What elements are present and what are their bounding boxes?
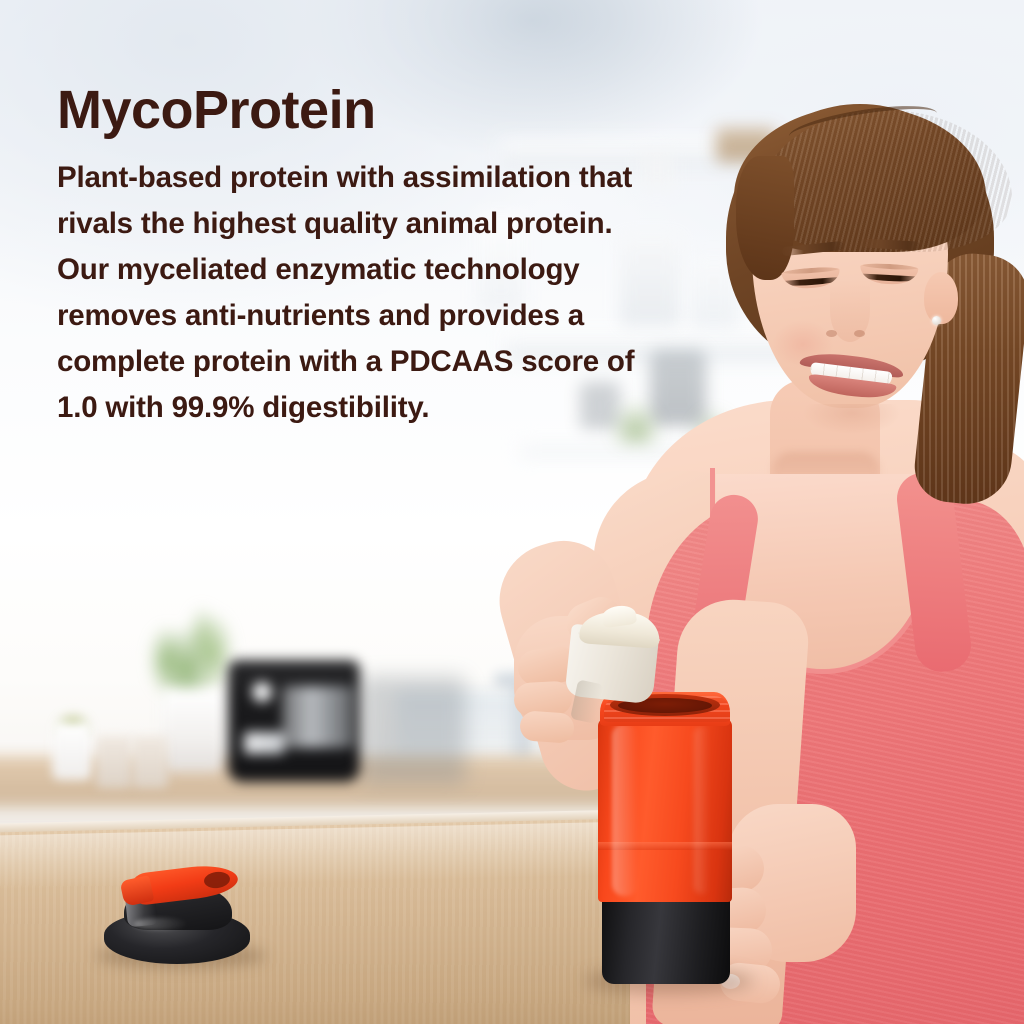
product-title: MycoProtein	[57, 82, 737, 139]
description-line: complete protein with a PDCAAS score of	[57, 339, 737, 385]
storage-jar-2	[132, 736, 168, 788]
bottle-lid	[104, 862, 254, 966]
description-line: Plant-based protein with assimilation th…	[57, 155, 737, 201]
hair-side	[736, 156, 794, 280]
nostril-right	[854, 330, 865, 337]
lid-highlight	[134, 918, 188, 930]
text-overlay: MycoProtein Plant-based protein with ass…	[57, 82, 737, 431]
ear	[924, 272, 958, 324]
product-description: Plant-based protein with assimilation th…	[57, 155, 737, 431]
measuring-scoop	[562, 604, 672, 708]
potted-plant-pot	[162, 690, 224, 772]
appliance-knob	[252, 682, 272, 702]
kitchen-appliance	[228, 660, 360, 782]
product-hero-image: MycoProtein Plant-based protein with ass…	[0, 0, 1024, 1024]
head	[708, 104, 1008, 444]
chin-shadow	[804, 404, 900, 434]
shaker-bottle	[598, 692, 732, 990]
appliance-steel-panel	[282, 686, 354, 748]
description-line: rivals the highest quality animal protei…	[57, 201, 737, 247]
earring	[932, 316, 941, 325]
bottle-highlight-left	[612, 724, 638, 896]
bottle-black-base	[602, 898, 730, 984]
description-line: removes anti-nutrients and provides a	[57, 293, 737, 339]
small-plant-pot	[52, 722, 92, 780]
storage-jar-1	[96, 736, 132, 788]
appliance-display	[244, 732, 284, 754]
mouth	[800, 356, 904, 398]
appliance-shadow	[360, 676, 466, 784]
bottle-highlight-right	[694, 726, 710, 894]
description-line: Our myceliated enzymatic technology	[57, 247, 737, 293]
description-line: 1.0 with 99.9% digestibility.	[57, 385, 737, 431]
scoop-hand-finger-3	[519, 710, 575, 744]
